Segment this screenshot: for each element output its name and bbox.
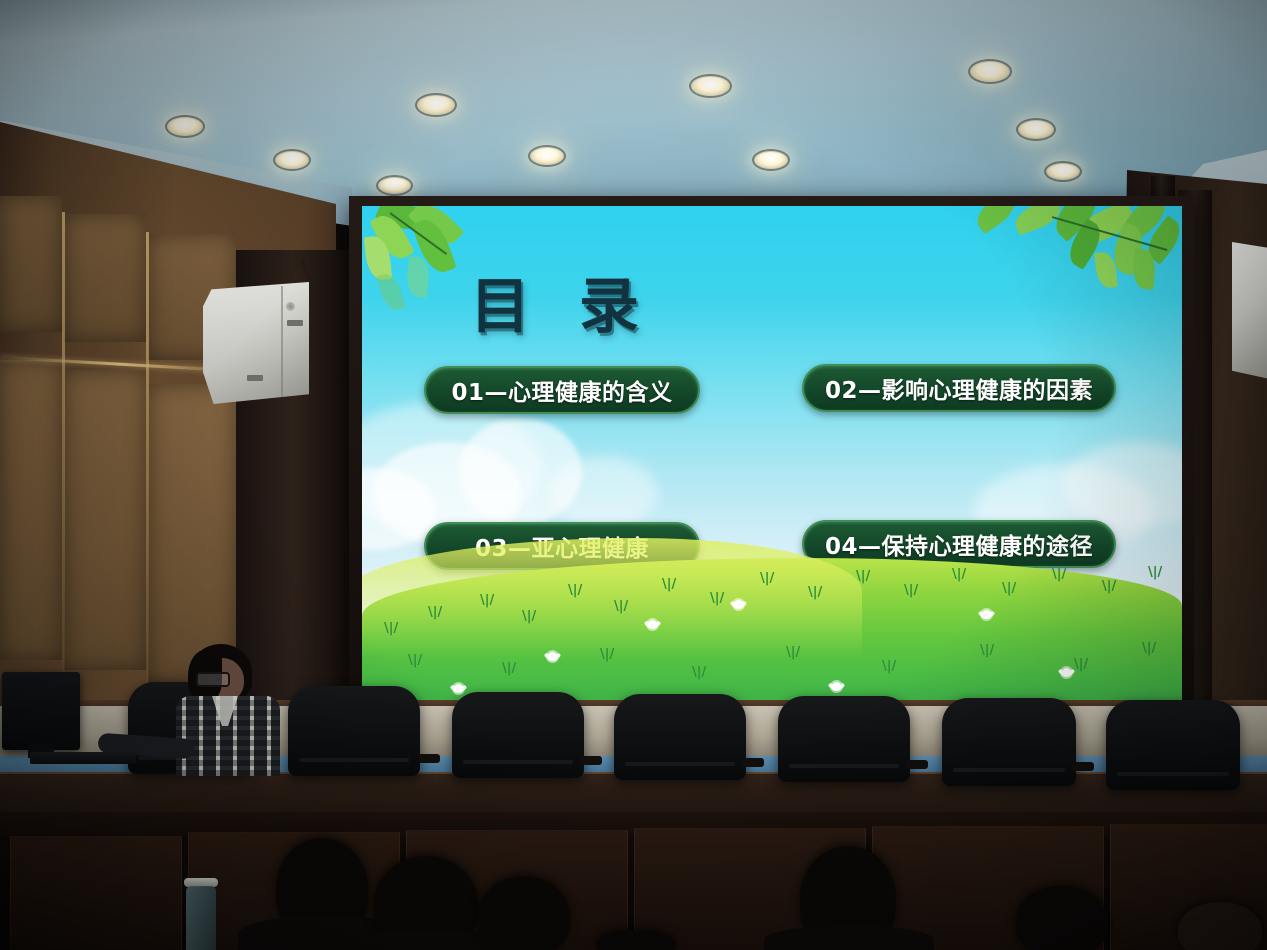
presenter [176, 644, 286, 776]
flower-icon [982, 610, 991, 619]
wall-speaker-icon [1232, 242, 1267, 382]
grass-tuft-icon: \|/ [980, 644, 994, 657]
toc-item-04-label: 04—保持心理健康的途径 [825, 527, 1093, 561]
ceiling-light-icon [755, 152, 787, 168]
grass-tuft-icon: \|/ [384, 622, 398, 635]
grass-tuft-icon: \|/ [856, 570, 870, 583]
chair [942, 698, 1076, 786]
ceiling-light-icon [379, 178, 410, 193]
slide-title: 目 录 [470, 258, 653, 345]
speaker-face [203, 282, 309, 404]
grass-tuft-icon: \|/ [480, 594, 494, 607]
audience-head [1016, 886, 1108, 950]
grass-tuft-icon: \|/ [502, 662, 516, 675]
monitor-icon [2, 672, 80, 750]
ceiling-light-icon [418, 96, 454, 114]
wall-panel [0, 196, 62, 332]
wall-panel [64, 370, 146, 670]
grass-tuft-icon: \|/ [808, 586, 822, 599]
grass-tuft-icon: \|/ [710, 592, 724, 605]
toc-item-01[interactable]: 01—心理健康的含义 [424, 366, 700, 414]
grass-tuft-icon: \|/ [1074, 658, 1088, 671]
chair-arm [1072, 762, 1094, 771]
chair [778, 696, 910, 782]
wall-panel [148, 384, 236, 684]
ceiling-light-icon [168, 118, 202, 135]
grass-tuft-icon: \|/ [408, 654, 422, 667]
chair [614, 694, 746, 780]
grass-tuft-icon: \|/ [1142, 642, 1156, 655]
grass-tuft-icon: \|/ [1102, 580, 1116, 593]
ceiling-light-icon [971, 62, 1009, 81]
leaves-icon [971, 206, 1021, 234]
grass-tuft-icon: \|/ [614, 600, 628, 613]
grass-tuft-icon: \|/ [1052, 568, 1066, 581]
bottle-icon [186, 886, 216, 950]
grass-tuft-icon: \|/ [662, 578, 676, 591]
ceiling-light-icon [276, 152, 308, 168]
ceiling-light-icon [692, 77, 729, 95]
grass-tuft-icon: \|/ [882, 660, 896, 673]
grass-tuft-icon: \|/ [904, 584, 918, 597]
speaker-badge [247, 375, 263, 381]
wall-speaker-icon [203, 282, 309, 404]
chair [452, 692, 584, 778]
chair [288, 686, 420, 776]
ceiling-light-icon [1047, 164, 1079, 179]
grass-tuft-icon: \|/ [428, 606, 442, 619]
flower-icon [548, 652, 557, 661]
chair-arm [580, 756, 602, 765]
audience-head [478, 876, 570, 950]
grass-tuft-icon: \|/ [522, 610, 536, 623]
speaker-driver-icon [286, 302, 295, 311]
grass-tuft-icon: \|/ [760, 572, 774, 585]
wall-gold-trim [62, 212, 65, 682]
speaker-face [1232, 242, 1267, 382]
toc-item-01-label: 01—心理健康的含义 [451, 373, 672, 407]
speaker-badge [287, 320, 303, 326]
grass-tuft-icon: \|/ [952, 568, 966, 581]
leaves-icon [376, 271, 406, 313]
hall-back-panel [10, 836, 182, 950]
audience-shoulder [764, 926, 934, 950]
chair-arm [418, 754, 440, 763]
grass-tuft-icon: \|/ [786, 646, 800, 659]
flower-icon [734, 600, 743, 609]
presentation-slide: 目 录 01—心理健康的含义 02—影响心理健康的因素 03—亚心理健康 04—… [362, 206, 1182, 718]
flower-icon [648, 620, 657, 629]
chair-arm [742, 758, 764, 767]
toc-item-02[interactable]: 02—影响心理健康的因素 [802, 364, 1116, 412]
flower-icon [832, 682, 841, 691]
chair-arm [906, 760, 928, 769]
grass-tuft-icon: \|/ [568, 584, 582, 597]
grass-highlight [362, 538, 862, 658]
grass-tuft-icon: \|/ [1148, 566, 1162, 579]
grass-tuft-icon: \|/ [1002, 582, 1016, 595]
wall-panel [0, 360, 62, 660]
audience-head [1178, 902, 1262, 950]
wall-gold-trim [146, 232, 149, 686]
grass-tuft-icon: \|/ [692, 666, 706, 679]
speaker-seam [281, 286, 283, 398]
ceiling-light-icon [531, 148, 563, 164]
grass-tuft-icon: \|/ [600, 648, 614, 661]
ceiling-light-icon [1019, 121, 1053, 138]
toc-item-02-label: 02—影响心理健康的因素 [825, 371, 1093, 405]
screenshot-root: 目 录 01—心理健康的含义 02—影响心理健康的因素 03—亚心理健康 04—… [0, 0, 1267, 950]
presenter-glasses-icon [196, 672, 230, 687]
wall-panel [64, 214, 146, 342]
flower-icon [454, 684, 463, 693]
chair [1106, 700, 1240, 790]
flower-icon [1062, 668, 1071, 677]
keyboard-icon [30, 752, 136, 764]
cloud-icon [548, 456, 658, 530]
